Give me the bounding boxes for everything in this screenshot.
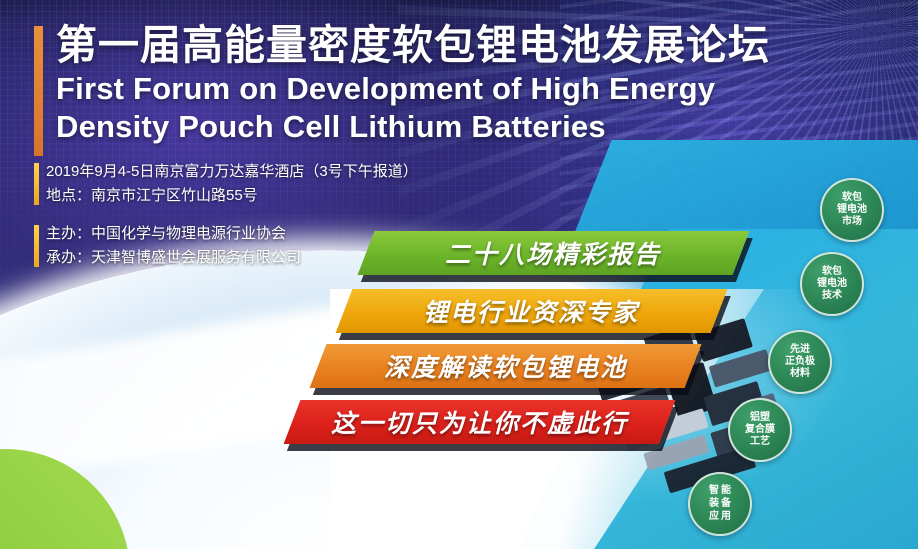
topic-badge-2-label: 软包锂电池技术 bbox=[817, 266, 847, 302]
topic-badge-1-label: 软包锂电池市场 bbox=[837, 192, 867, 228]
topic-badge-aluminum-laminate-film-process: 铝塑复合膜工艺 bbox=[728, 398, 792, 462]
topic-badge-3-label: 先进正负极材料 bbox=[785, 344, 815, 380]
highlight-banner-group: 二十八场精彩报告 锂电行业资深专家 深度解读软包锂电池 这一切只为让你不虚此行 bbox=[0, 0, 918, 549]
topic-badge-pouch-battery-market: 软包锂电池市场 bbox=[820, 178, 884, 242]
topic-badge-4-label: 铝塑复合膜工艺 bbox=[745, 412, 775, 448]
topic-badge-pouch-battery-technology: 软包锂电池技术 bbox=[800, 252, 864, 316]
topic-badge-5-label: 智装应能备用 bbox=[709, 484, 731, 524]
highlight-banner-4: 这一切只为让你不虚此行 bbox=[284, 400, 676, 444]
highlight-banner-1-label: 二十八场精彩报告 bbox=[445, 235, 661, 271]
conference-poster: 第一届高能量密度软包锂电池发展论坛 First Forum on Develop… bbox=[0, 0, 918, 549]
highlight-banner-2-label: 锂电行业资深专家 bbox=[423, 293, 639, 329]
highlight-banner-3-label: 深度解读软包锂电池 bbox=[384, 348, 627, 384]
topic-badge-advanced-electrode-materials: 先进正负极材料 bbox=[768, 330, 832, 394]
topic-badge-smart-equipment-application: 智装应能备用 bbox=[688, 472, 752, 536]
highlight-banner-2: 锂电行业资深专家 bbox=[336, 289, 728, 333]
highlight-banner-3: 深度解读软包锂电池 bbox=[310, 344, 702, 388]
highlight-banner-1: 二十八场精彩报告 bbox=[358, 231, 750, 275]
highlight-banner-4-label: 这一切只为让你不虚此行 bbox=[331, 404, 628, 440]
